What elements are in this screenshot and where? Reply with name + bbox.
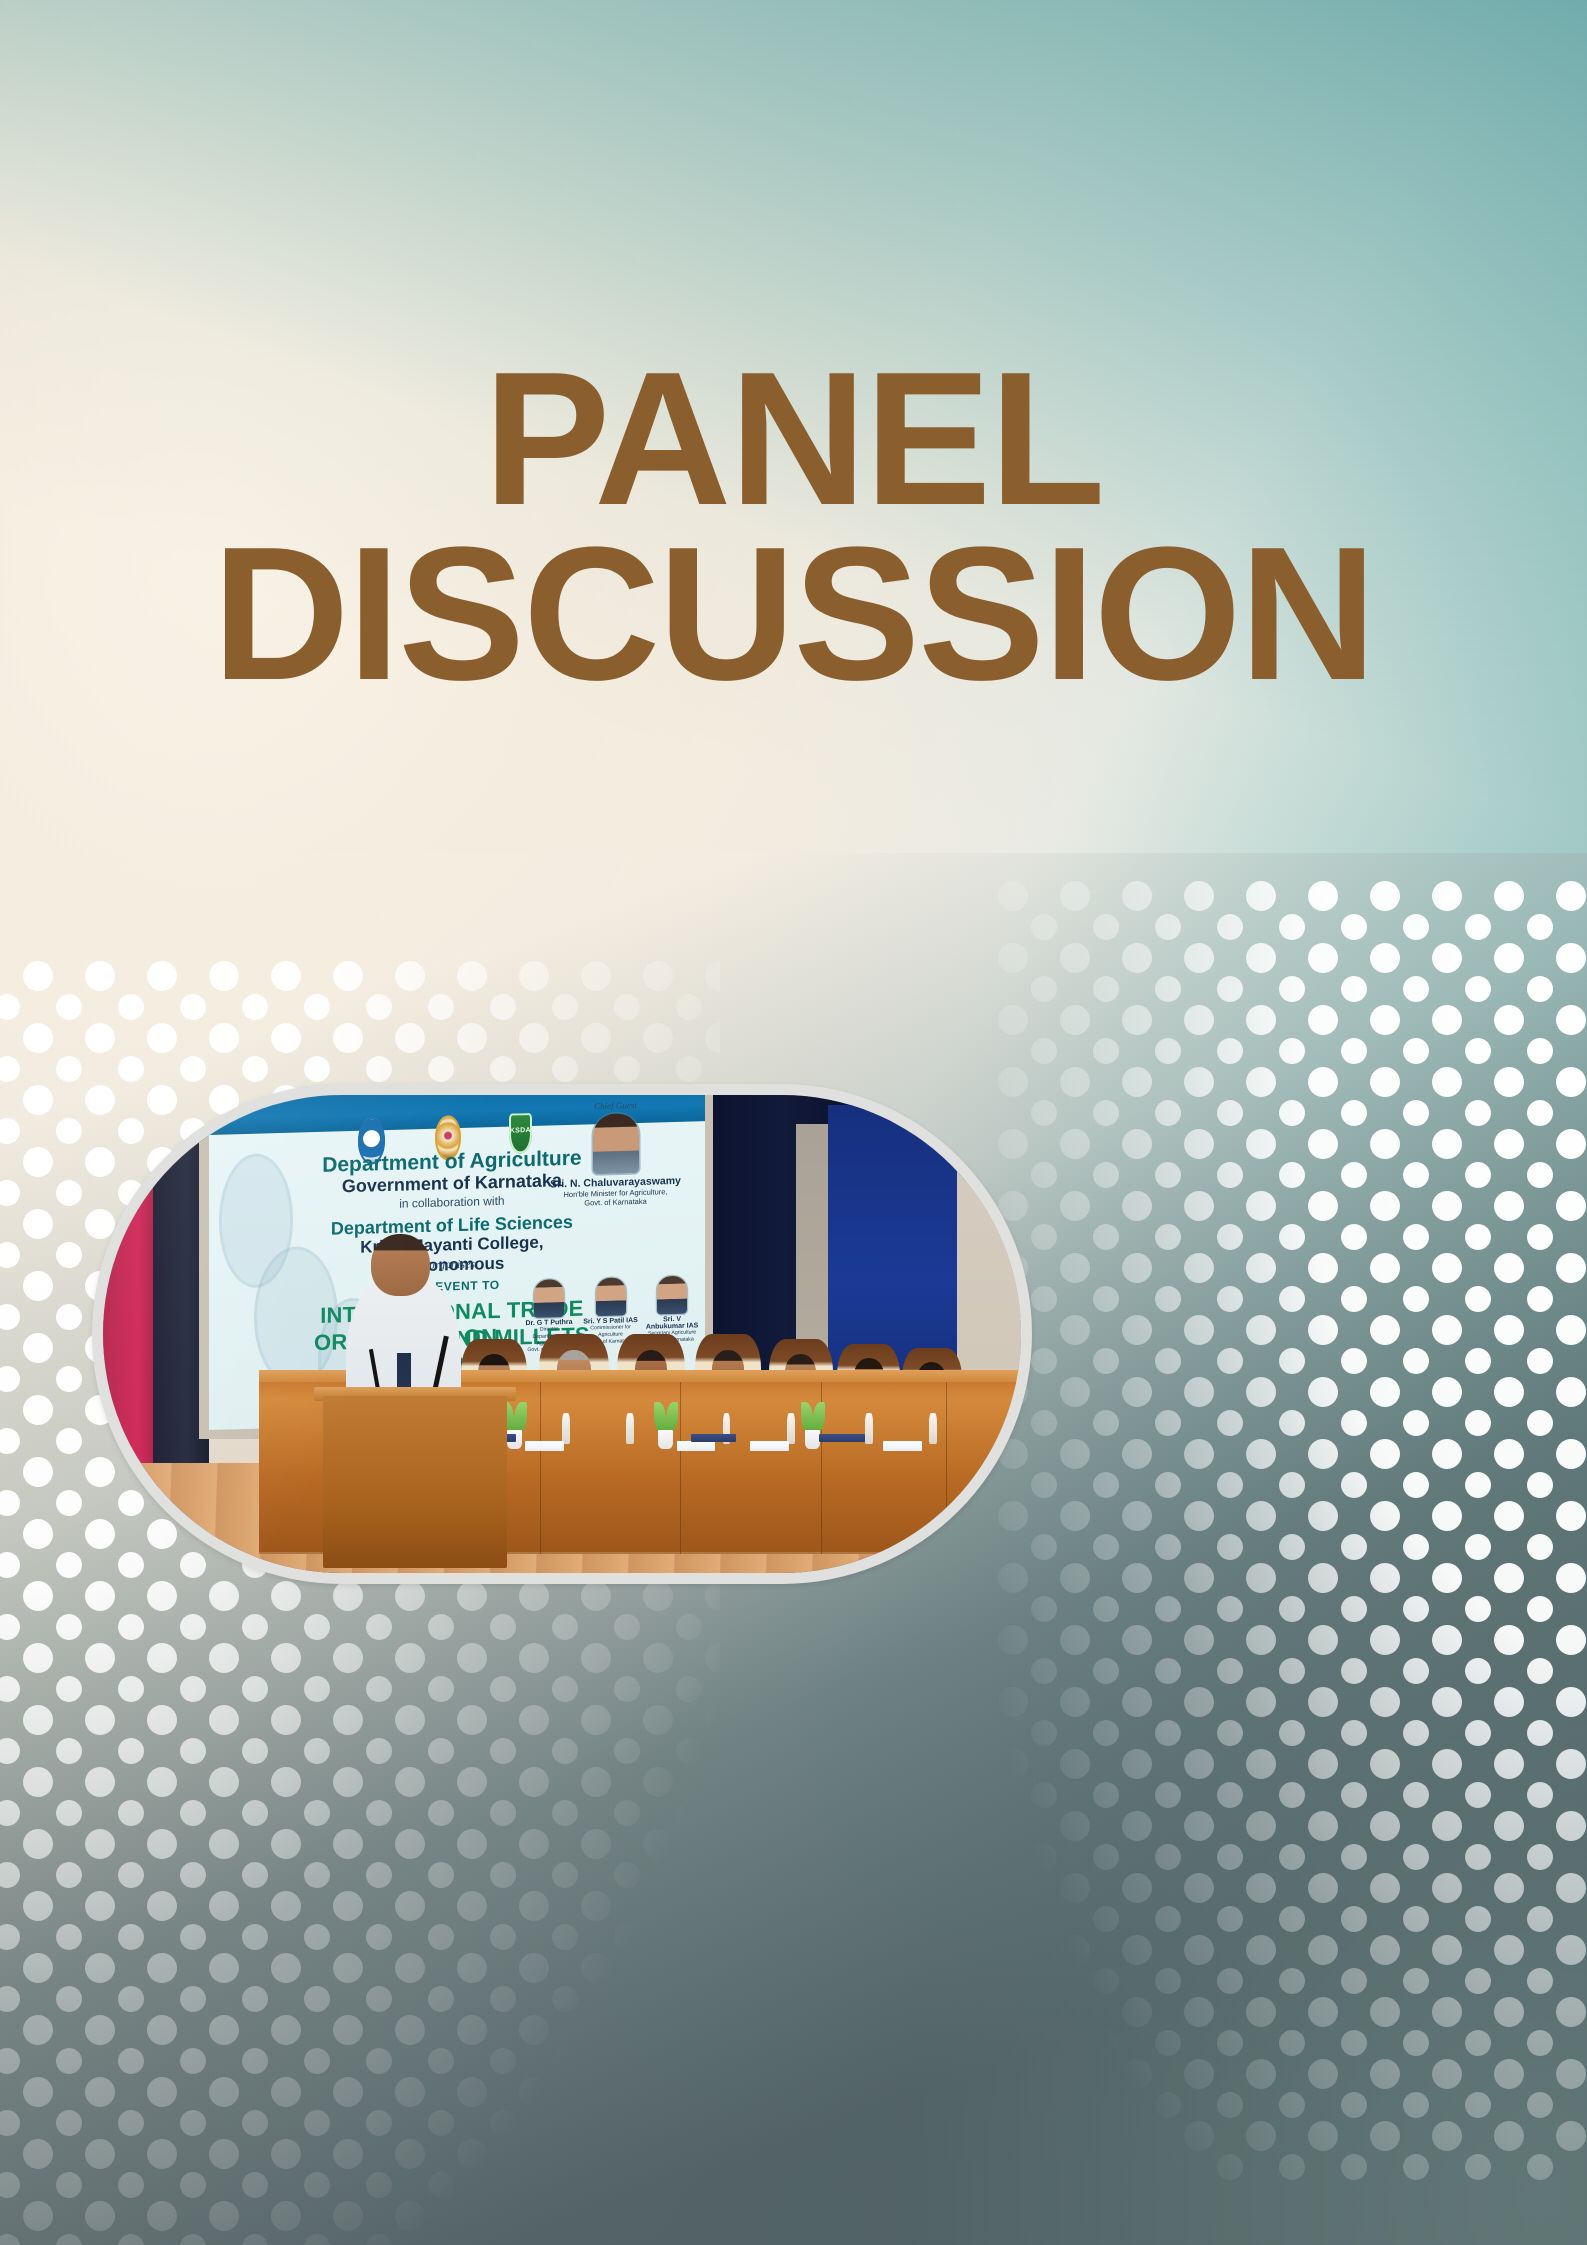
chief-guest-block: Chief Guest Sri. N. Chaluvarayaswamy Hon… — [542, 1098, 691, 1209]
name-placard — [525, 1441, 564, 1452]
name-placard — [750, 1441, 789, 1452]
name-placard — [677, 1441, 716, 1452]
name-placard — [883, 1441, 922, 1452]
table-plant — [654, 1406, 678, 1449]
plant-pot — [805, 1430, 820, 1449]
plant-leaf — [514, 1402, 526, 1433]
title-line-one: PANEL — [0, 352, 1587, 527]
chief-guest-portrait — [593, 1113, 639, 1174]
water-bottle — [929, 1413, 937, 1444]
water-bottle — [626, 1413, 634, 1444]
ksda-label: KSDA — [509, 1127, 532, 1135]
plant-leaf — [666, 1402, 678, 1433]
dais-panel-seam — [946, 1382, 947, 1554]
dais-panel-seam — [680, 1382, 681, 1554]
speaker-head — [371, 1234, 430, 1296]
event-photograph: KSDA Department of Agriculture Governmen… — [103, 1095, 1021, 1573]
title-line-two: DISCUSSION — [0, 527, 1587, 702]
dignitary-portrait — [658, 1276, 688, 1315]
document-folder — [691, 1434, 737, 1442]
plant-leaf — [800, 1402, 812, 1433]
photo-scene: KSDA Department of Agriculture Governmen… — [103, 1095, 1021, 1573]
document-folder — [819, 1434, 865, 1442]
podium — [323, 1396, 507, 1568]
plant-leaf — [813, 1402, 825, 1433]
page-title: PANEL DISCUSSION — [0, 352, 1587, 702]
water-bottle — [865, 1413, 873, 1444]
photo-card: KSDA Department of Agriculture Governmen… — [92, 1084, 1032, 1584]
plant-leaf — [653, 1402, 665, 1433]
dignitary-portrait — [534, 1279, 564, 1318]
dignitary-portrait — [596, 1277, 626, 1316]
poster-page: PANEL DISCUSSION — [0, 0, 1587, 2245]
water-bottle — [787, 1413, 795, 1444]
dais-panel-seam — [540, 1382, 541, 1554]
table-plant — [801, 1406, 825, 1449]
water-bottle — [562, 1413, 570, 1444]
plant-pot — [658, 1430, 673, 1449]
